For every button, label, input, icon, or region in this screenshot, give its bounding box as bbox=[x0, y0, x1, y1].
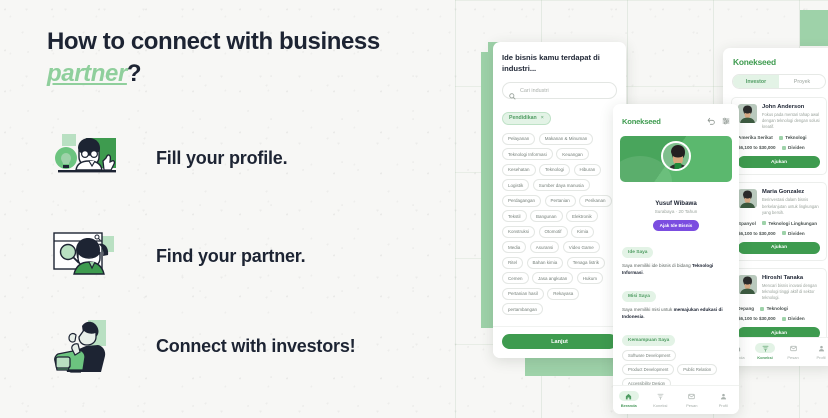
nav-item-beranda[interactable]: Beranda bbox=[613, 391, 645, 408]
industry-tag[interactable]: Hukum bbox=[577, 272, 603, 284]
connection-icon bbox=[755, 343, 775, 353]
sector-swatch-icon bbox=[760, 307, 764, 311]
investor-sector: Teknologi bbox=[760, 306, 788, 311]
industry-card-title: Ide bisnis kamu terdapat di industri... bbox=[502, 52, 617, 74]
skill-tag[interactable]: Public Relation bbox=[677, 364, 717, 375]
home-icon bbox=[619, 391, 639, 401]
industry-card-footer: Lanjut bbox=[493, 326, 626, 358]
profile-illustration-icon bbox=[48, 130, 126, 186]
industry-tag[interactable]: Jasa angkutan bbox=[532, 272, 573, 284]
feature-label: Connect with investors! bbox=[156, 336, 355, 357]
investor-name: Maria Gonzalez bbox=[762, 189, 820, 195]
investor-tabs: Investor Proyek bbox=[732, 74, 826, 89]
industry-tag[interactable]: Ritel bbox=[502, 257, 523, 269]
industry-tag[interactable]: Perdagangan bbox=[502, 195, 541, 207]
selected-chip-label: Pendidikan bbox=[509, 115, 537, 121]
phone-topbar-actions bbox=[707, 112, 730, 130]
ide-text-before: Saya memiliki ide bisnis di bidang bbox=[622, 263, 692, 268]
decor-square-1 bbox=[800, 10, 828, 46]
feature-item-find-partner: Find your partner. bbox=[48, 228, 305, 284]
message-icon bbox=[682, 391, 702, 401]
close-icon[interactable]: × bbox=[541, 115, 544, 121]
industry-tag[interactable]: Asuransi bbox=[530, 241, 560, 253]
phone-topbar: Konekseed bbox=[613, 104, 739, 136]
app-brand-phone: Konekseed bbox=[622, 117, 661, 126]
industry-tag-list: PelayananMakanan & MinumanTeknologi Info… bbox=[502, 133, 617, 316]
investor-amount: $6,100 to $30,000 bbox=[738, 316, 776, 321]
investor-card[interactable]: Maria GonzalezBerinvestasi dalam bisnis … bbox=[731, 182, 827, 260]
selected-industry-chip[interactable]: Pendidikan × bbox=[502, 112, 551, 125]
investor-card[interactable]: Hiroshi TanakaMencari bisnis inovasi den… bbox=[731, 268, 827, 346]
search-icon bbox=[509, 87, 516, 94]
continue-button[interactable]: Lanjut bbox=[502, 334, 617, 349]
section-text-misi-saya: Saya memiliki misi untuk memajukan eduka… bbox=[622, 306, 730, 320]
industry-tag[interactable]: Rekayasa bbox=[547, 288, 579, 300]
industry-tag[interactable]: Video Game bbox=[563, 241, 600, 253]
nav-item-pesan[interactable]: Pesan bbox=[779, 343, 807, 360]
avatar bbox=[661, 141, 691, 171]
industry-tag[interactable]: Perikanan bbox=[579, 195, 611, 207]
tab-investor[interactable]: Investor bbox=[733, 75, 779, 88]
misi-text-before: Saya memiliki misi untuk bbox=[622, 307, 674, 312]
industry-tag[interactable]: Tekstil bbox=[502, 210, 527, 222]
industry-tag[interactable]: Pertanian hasil bbox=[502, 288, 544, 300]
tab-proyek[interactable]: Proyek bbox=[779, 75, 825, 88]
profile-identity: Yusuf Wibawa Surabaya · 20 Tahun Ajak Id… bbox=[613, 200, 739, 232]
industry-tag[interactable]: Kesehatan bbox=[502, 164, 536, 176]
headline-highlight: partner bbox=[47, 60, 127, 87]
industry-tag[interactable]: Teknologi bbox=[539, 164, 570, 176]
industry-tag[interactable]: Kimia bbox=[571, 226, 594, 238]
headline-suffix: ? bbox=[127, 60, 141, 87]
investor-type: Dividen bbox=[782, 231, 805, 236]
nav-item-koneksi[interactable]: Koneksi bbox=[645, 391, 677, 408]
industry-tag[interactable]: Teknologi Informasi bbox=[502, 148, 553, 160]
investor-illustration-icon bbox=[48, 318, 126, 374]
industry-tag[interactable]: Sumber daya manusia bbox=[533, 179, 590, 191]
left-content: How to connect with business partner? bbox=[0, 0, 460, 418]
feature-label: Fill your profile. bbox=[156, 148, 287, 169]
nav-item-label: Profil bbox=[816, 355, 825, 360]
feature-item-fill-profile: Fill your profile. bbox=[48, 130, 287, 186]
investor-type: Dividen bbox=[782, 145, 805, 150]
person-icon bbox=[713, 391, 733, 401]
industry-tag[interactable]: Logistik bbox=[502, 179, 529, 191]
investor-type: Dividen bbox=[782, 316, 805, 321]
investor-country: Spanyol bbox=[738, 221, 756, 226]
investor-country: Jepang bbox=[738, 306, 754, 311]
industry-tag[interactable]: Otomotif bbox=[539, 226, 568, 238]
section-pill-misi-saya: Misi Saya bbox=[622, 291, 656, 302]
industry-tag[interactable]: Bangunan bbox=[530, 210, 563, 222]
ide-text-after: . bbox=[643, 270, 644, 275]
investor-card[interactable]: John AndersonFokus pada mentari tahap aw… bbox=[731, 97, 827, 175]
investor-country: Amerika Serikat bbox=[738, 135, 773, 140]
skill-tag[interactable]: Software Development bbox=[622, 350, 676, 361]
product-mockups: Ide bisnis kamu terdapat di industri... … bbox=[455, 0, 828, 418]
sector-swatch-icon bbox=[779, 136, 783, 140]
nav-item-label: Profil bbox=[719, 403, 728, 408]
profile-meta: Surabaya · 20 Tahun bbox=[613, 209, 739, 214]
nav-item-label: Pesan bbox=[787, 355, 798, 360]
apply-button[interactable]: Ajukan bbox=[738, 156, 820, 168]
section-pill-kemampuan-saya: Kemampuan Saya bbox=[622, 335, 675, 346]
industry-search-placeholder: Cari industri bbox=[520, 88, 549, 94]
nav-item-profil[interactable]: Profil bbox=[807, 343, 828, 360]
investor-description: Fokus pada mentari tahap awal dengan tek… bbox=[762, 112, 820, 130]
investor-description: Mencari bisnis inovasi dengan teknologi … bbox=[762, 283, 820, 301]
industry-tag[interactable]: Makanan & Minuman bbox=[539, 133, 594, 145]
industry-tag[interactable]: Cemen bbox=[502, 272, 529, 284]
feature-label: Find your partner. bbox=[156, 246, 305, 267]
avatar bbox=[738, 189, 757, 208]
nav-item-koneksi[interactable]: Koneksi bbox=[751, 343, 779, 360]
skill-tag[interactable]: Product Development bbox=[622, 364, 674, 375]
section-text-ide-saya: Saya memiliki ide bisnis di bidang Tekno… bbox=[622, 262, 730, 276]
nav-item-pesan[interactable]: Pesan bbox=[676, 391, 708, 408]
feature-item-connect-investors: Connect with investors! bbox=[48, 318, 355, 374]
sector-swatch-icon bbox=[762, 221, 766, 225]
page-title: How to connect with business partner? bbox=[47, 26, 437, 89]
message-icon bbox=[783, 343, 803, 353]
industry-search-input[interactable]: Cari industri bbox=[502, 82, 617, 99]
investor-amount: $6,100 to $30,000 bbox=[738, 145, 776, 150]
nav-item-label: Koneksi bbox=[757, 355, 773, 360]
investor-name: Hiroshi Tanaka bbox=[762, 275, 820, 281]
filter-icon[interactable] bbox=[722, 112, 730, 130]
avatar bbox=[738, 275, 757, 294]
industry-picker-card: Ide bisnis kamu terdapat di industri... … bbox=[493, 42, 626, 358]
skill-tag-list: Software DevelopmentProduct DevelopmentP… bbox=[622, 350, 730, 389]
industry-tag[interactable]: Pelayanan bbox=[502, 133, 535, 145]
investor-sector: Teknologi bbox=[779, 135, 807, 140]
nav-item-profil[interactable]: Profil bbox=[708, 391, 740, 408]
industry-tag[interactable]: Hiburan bbox=[574, 164, 602, 176]
misi-text-after: . bbox=[643, 314, 644, 319]
industry-tag[interactable]: Elektronik bbox=[566, 210, 598, 222]
nav-item-label: Koneksi bbox=[653, 403, 667, 408]
industry-tag[interactable]: Media bbox=[502, 241, 526, 253]
type-swatch-icon bbox=[782, 146, 786, 150]
industry-tag[interactable]: Bahan kimia bbox=[527, 257, 564, 269]
nav-item-label: Beranda bbox=[621, 403, 637, 408]
investor-name: John Anderson bbox=[762, 104, 820, 110]
avatar bbox=[738, 104, 757, 123]
apply-button[interactable]: Ajukan bbox=[738, 242, 820, 254]
industry-tag[interactable]: Tenaga listrik bbox=[567, 257, 605, 269]
headline-line1: How to connect with business bbox=[47, 28, 380, 55]
section-pill-ide-saya: Ide Saya bbox=[622, 247, 653, 258]
nav-item-label: Pesan bbox=[686, 403, 697, 408]
industry-tag[interactable]: Pertanian bbox=[545, 195, 576, 207]
investor-amount: $6,100 to $30,000 bbox=[738, 231, 776, 236]
industry-tag[interactable]: Keuangan bbox=[556, 148, 589, 160]
search-partner-illustration-icon bbox=[48, 228, 126, 284]
type-swatch-icon bbox=[782, 317, 786, 321]
industry-tag[interactable]: Konstruksi bbox=[502, 226, 535, 238]
investor-sector: Teknologi Lingkungan bbox=[762, 221, 817, 226]
app-brand-investor-panel: Konekseed bbox=[723, 48, 828, 74]
phone-bottom-nav: BerandaKoneksiPesanProfil bbox=[613, 385, 739, 414]
investor-description: Berinvestasi dalam bisnis berkelanjutan … bbox=[762, 197, 820, 215]
industry-tag[interactable]: pertambangan bbox=[502, 303, 543, 315]
person-icon bbox=[811, 343, 828, 353]
undo-icon[interactable] bbox=[707, 112, 715, 130]
profile-badge[interactable]: Ajak Ide Bisnis bbox=[653, 220, 700, 231]
connection-icon bbox=[650, 391, 670, 401]
profile-name: Yusuf Wibawa bbox=[613, 200, 739, 207]
phone-profile-mockup: Konekseed Yusuf Wibawa Surabay bbox=[613, 104, 739, 414]
type-swatch-icon bbox=[782, 231, 786, 235]
